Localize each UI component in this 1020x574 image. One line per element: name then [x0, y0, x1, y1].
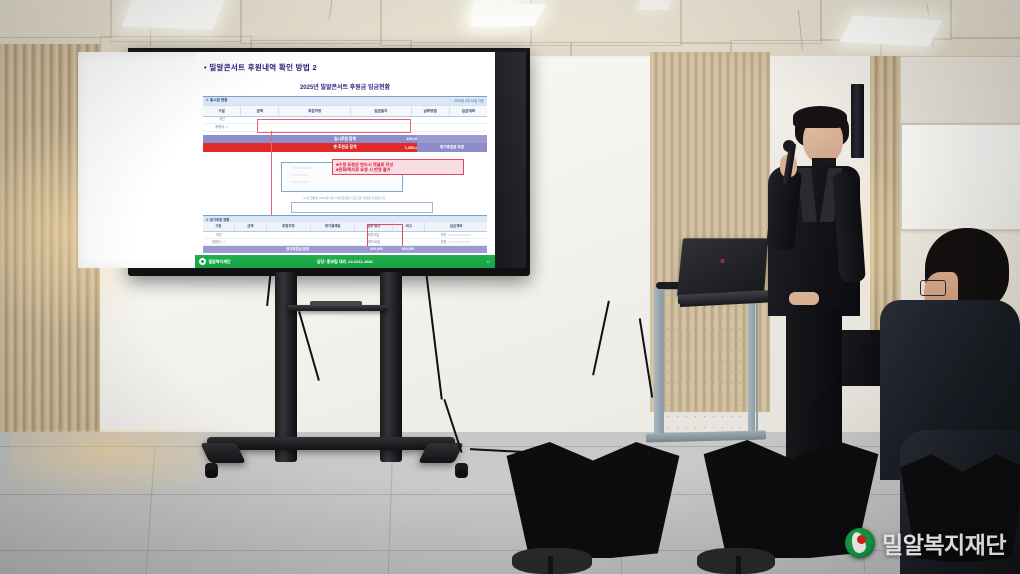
- ceiling-light-3: [470, 4, 547, 26]
- cart-base: [207, 437, 455, 450]
- presentation-slide: • 밀알콘서트 후원내역 확인 방법 2 2025년 밀알콘서트 후원금 입금현…: [195, 52, 495, 268]
- cell: 신한 ○○○-○○-○○○○○○: [424, 238, 487, 245]
- col-header: 입금계좌: [425, 222, 487, 231]
- cell: 국민 ○○○-○○-○○○○○○: [424, 231, 487, 238]
- cell: [310, 231, 354, 238]
- cell: -: [449, 123, 487, 131]
- section2-summary-bar: 정기후원금 합계 600,000 600,000: [203, 246, 487, 253]
- podium: [662, 288, 758, 440]
- slide-title: • 밀알콘서트 후원내역 확인 방법 2: [204, 62, 317, 73]
- watermark-logo: 밀알복지재단: [845, 526, 1006, 560]
- screen-right-letterbox: [490, 52, 526, 268]
- section2-label: 2. 정기후원 현황: [206, 217, 229, 222]
- summary-value: 600,000: [361, 246, 393, 253]
- section1-date-note: 2025년 3월 14일 기준: [454, 98, 484, 103]
- cell: 후원자 ○○: [203, 238, 235, 245]
- cell: -: [235, 231, 267, 238]
- cell: -: [449, 115, 487, 123]
- cell: 개인: [203, 115, 241, 123]
- highlight-cell: [367, 224, 403, 248]
- cell: -: [411, 123, 449, 131]
- slide-page-number: 11: [486, 260, 490, 264]
- slide-bullet-icon: •: [204, 63, 207, 72]
- slide-subtitle: 2025년 밀알콘서트 후원금 입금현황: [195, 82, 495, 91]
- presentation-room-photo: • 밀알콘서트 후원내역 확인 방법 2 2025년 밀알콘서트 후원금 입금현…: [0, 0, 1020, 574]
- microphone-head: [783, 140, 795, 152]
- cart-column-right: [380, 272, 402, 462]
- ceiling-light-1: [122, 0, 226, 30]
- cell: 개인: [203, 231, 235, 238]
- presenter-hand-right: [789, 292, 819, 305]
- summary-value: 600,000: [392, 246, 424, 253]
- watermark-brand-text: 밀알복지재단: [882, 526, 1006, 560]
- cell: -: [266, 238, 310, 245]
- total-right-note: 정기후원금 포함: [440, 145, 464, 150]
- ceiling-light-4: [839, 16, 942, 47]
- podium-rail-left: [654, 288, 662, 438]
- cell: -: [411, 115, 449, 123]
- cart-caster-right: [455, 463, 468, 478]
- wall-tile: [900, 56, 1020, 128]
- cell: 후원자 ○○: [203, 123, 241, 131]
- cart-shelf-item: [310, 301, 362, 306]
- slide-title-text: 밀알콘서트 후원내역 확인 방법 2: [209, 63, 317, 72]
- summary-label: 정기후원금 합계: [266, 246, 329, 253]
- col-header: 후원자명: [267, 222, 311, 231]
- cell: -: [235, 238, 267, 245]
- section1-label: 1. 일시금 현황: [206, 98, 228, 103]
- cell: -: [266, 231, 310, 238]
- highlight-box: [257, 119, 411, 133]
- col-header: 구분: [203, 222, 235, 231]
- col-header: 정기결제일: [311, 222, 355, 231]
- slide-note: ※ 본 현황은 2025년 3월 14일 입금분 기준으로 작성된 자료입니다: [303, 196, 385, 200]
- col-header: 금액: [235, 222, 267, 231]
- audience-glasses: [920, 280, 946, 296]
- floor-speaker: [835, 330, 883, 386]
- laptop-screen: [677, 238, 768, 296]
- wall-speaker: [851, 84, 864, 158]
- miral-leaf-icon: [845, 528, 875, 558]
- slide-footer: 밀알복지재단 담당: 홍보팀 대리_02-6411-3681 11: [195, 255, 495, 268]
- secondary-box: [291, 202, 433, 213]
- whiteboard: [900, 123, 1020, 231]
- presenter-hair-top: [793, 106, 847, 128]
- total-label: 총 후원금 합계: [305, 145, 385, 150]
- cart-caster-left: [205, 463, 218, 478]
- ceiling-light-5: [638, 0, 673, 10]
- footer-contact: 담당: 홍보팀 대리_02-6411-3681: [195, 259, 495, 265]
- laptop-logo-icon: [720, 259, 724, 263]
- callout-line-2: ■전화/쪽지로 요청 시 반영 불가: [336, 167, 460, 173]
- cart-column-left: [275, 272, 297, 462]
- warning-callout: ■수정 요청은 반드시 댓글로 작성 ■전화/쪽지로 요청 시 반영 불가: [332, 159, 464, 175]
- podium-rail-right: [748, 286, 755, 436]
- subtotal-label: 일시후원 합계: [305, 137, 385, 142]
- cell: [310, 238, 354, 245]
- table-row: 후원자 ○○ - - 매월 25일 - 신한 ○○○-○○-○○○○○○: [203, 238, 487, 246]
